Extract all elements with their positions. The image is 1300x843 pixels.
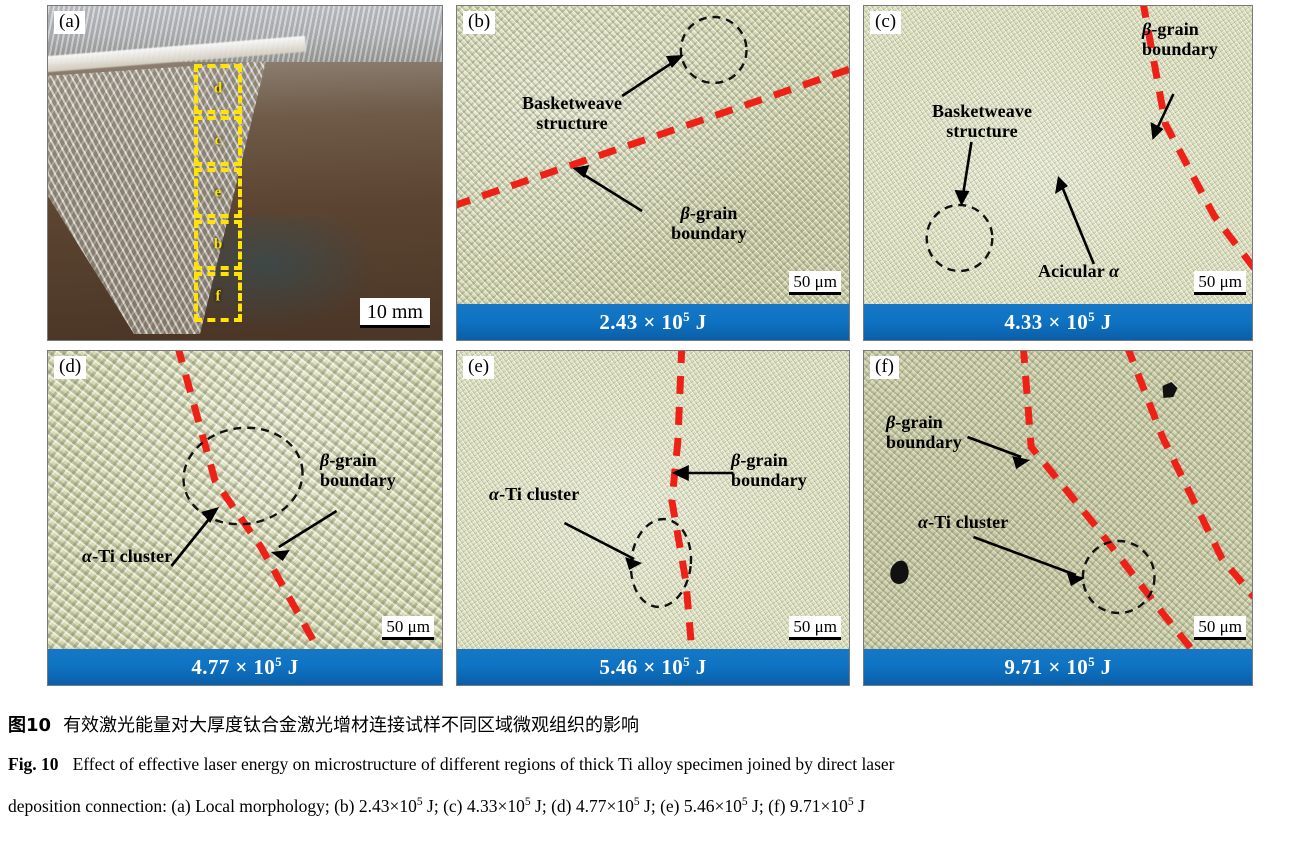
roi-label-b: b [198,237,238,254]
acicular-text: Acicular [1038,261,1109,281]
beta-symbol: β [681,203,690,223]
energy-mult-d: × 10 [230,655,275,679]
panel-b-image: Basketweave structure β-grain boundary 5… [457,6,849,305]
energy-mult-e: × 10 [638,655,683,679]
annotation-beta-line2: boundary [1142,40,1252,60]
caption-cn-text: 有效激光能量对大厚度钛合金激光增材连接试样不同区域微观组织的影响 [51,715,639,736]
energy-value-d: 4.77 [191,655,229,679]
energy-label-f: 9.71 × 105 J [1004,654,1111,680]
energy-value-e: 5.46 [599,655,637,679]
basketweave-arrow-line [622,59,678,96]
caption-en-end: J [854,796,865,816]
energy-mult-b: × 10 [638,310,683,334]
acicular-alpha-arrow-head [1055,176,1068,194]
annotation-beta-line2: boundary [731,471,849,491]
caption-en-mid3: J; (e) 5.46×10 [640,796,742,816]
alpha-cluster-arrow-line [973,537,1075,575]
annotation-basketweave-line2: structure [892,122,1072,142]
roi-label-e: e [198,185,238,202]
energy-unit-d: J [282,655,299,679]
energy-value-c: 4.33 [1004,310,1042,334]
acicular-alpha-arrow-line [1061,184,1094,264]
annotation-basketweave-line2: structure [477,114,667,134]
annotation-beta-line2: boundary [320,471,442,491]
beta-line1-rest: -grain [1151,19,1199,39]
caption-en-label: Fig. 10 [8,754,59,774]
energy-value-f: 9.71 [1004,655,1042,679]
alpha-symbol: α [1109,261,1119,281]
alpha-symbol: α [918,512,928,532]
beta-line1-rest: -grain [740,450,788,470]
annotation-beta-line1: β-grain [1142,20,1252,40]
roi-box-c[interactable]: c [194,116,242,166]
roi-label-f: f [198,289,238,306]
caption-en-mid2: J; (d) 4.77×10 [531,796,634,816]
panel-a-image: d c e b f 10 mm [48,6,442,341]
alpha-ti-cluster-circle [1083,541,1155,613]
scale-bar-50um-c: 50 μm [1194,271,1246,295]
beta-line1-rest: -grain [690,203,738,223]
beta-line1-rest: -grain [329,450,377,470]
panel-e-micrograph[interactable]: β-grain boundary α-Ti cluster 50 μm (e) … [456,350,850,686]
roi-label-d: d [198,81,238,98]
beta-symbol: β [1142,19,1151,39]
beta-boundary-arrow-line [279,511,337,547]
energy-label-d: 4.77 × 105 J [191,654,298,680]
beta-symbol: β [320,450,329,470]
annotation-alpha-ti-cluster-f: α-Ti cluster [918,513,1088,533]
roi-box-d[interactable]: d [194,64,242,114]
annotation-beta-line2: boundary [886,433,1036,453]
panel-label-b: (b) [463,11,495,34]
panel-grid: d c e b f 10 mm (a) [47,5,1253,686]
panel-d-micrograph[interactable]: β-grain boundary α-Ti cluster 50 μm (d) … [47,350,443,686]
scale-bar-50um-f: 50 μm [1194,616,1246,640]
scale-bar-50um-b: 50 μm [789,271,841,295]
energy-label-c: 4.33 × 105 J [1004,309,1111,335]
basketweave-region-circle [681,17,747,83]
energy-bar-e: 5.46 × 105 J [457,649,849,685]
caption-en-line1-text: Effect of effective laser energy on micr… [59,754,895,774]
beta-boundary-arrow-head [1151,122,1164,140]
caption-cn-label: 图10 [8,715,51,736]
panel-d-overlay [48,351,442,650]
panel-label-e: (e) [463,356,494,379]
energy-label-e: 5.46 × 105 J [599,654,706,680]
alpha-cluster-text: -Ti cluster [928,512,1008,532]
scale-bar-10mm: 10 mm [360,298,430,328]
energy-unit-c: J [1095,310,1112,334]
scale-bar-50um-e: 50 μm [789,616,841,640]
panel-b-overlay [457,6,849,305]
annotation-alpha-ti-cluster-d: α-Ti cluster [82,547,242,567]
alpha-symbol: α [489,484,499,504]
alpha-cluster-arrow-line [564,523,634,559]
annotation-beta-grain-boundary-f: β-grain boundary [886,413,1036,453]
beta-boundary-arrow-head [271,550,290,561]
annotation-beta-line1: β-grain [731,451,849,471]
panel-c-image: β-grain boundary Basketweave structure A… [864,6,1252,305]
annotation-beta-line1: β-grain [629,204,789,224]
caption-english-line1: Fig. 10Effect of effective laser energy … [8,745,1292,783]
annotation-basketweave-c: Basketweave structure [892,102,1072,142]
beta-symbol: β [731,450,740,470]
panel-label-f: (f) [870,356,899,379]
caption-en-mid1: J; (c) 4.33×10 [423,796,525,816]
caption-chinese: 图10有效激光能量对大厚度钛合金激光增材连接试样不同区域微观组织的影响 [8,706,1292,745]
energy-mult-c: × 10 [1043,310,1088,334]
annotation-basketweave-line1: Basketweave [477,94,667,114]
panel-b-micrograph[interactable]: Basketweave structure β-grain boundary 5… [456,5,850,341]
basketweave-arrow-head [955,190,970,206]
beta-grain-boundary-line [672,351,692,650]
beta-grain-boundary-line [457,68,849,206]
panel-f-overlay [864,351,1252,650]
panel-label-d: (d) [54,356,86,379]
basketweave-arrow-line [962,142,971,198]
annotation-basketweave-b: Basketweave structure [477,94,667,134]
basketweave-region-circle [927,205,993,271]
inclusion-spot-left [890,561,908,584]
alpha-cluster-text: -Ti cluster [499,484,579,504]
alpha-ti-cluster-circle [177,420,309,532]
annotation-acicular-alpha-c: Acicular α [1038,262,1178,282]
roi-box-e[interactable]: e [194,168,242,218]
annotation-alpha-ti-cluster-e: α-Ti cluster [489,485,659,505]
panel-f-image: β-grain boundary α-Ti cluster 50 μm [864,351,1252,650]
annotation-beta-line1: β-grain [886,413,1036,433]
energy-bar-d: 4.77 × 105 J [48,649,442,685]
energy-unit-f: J [1095,655,1112,679]
beta-boundary-arrow-head [1012,456,1030,469]
panel-e-image: β-grain boundary α-Ti cluster 50 μm [457,351,849,650]
caption-english-line2: deposition connection: (a) Local morphol… [8,783,1292,825]
annotation-beta-grain-boundary-e: β-grain boundary [731,451,849,491]
figure-container: d c e b f 10 mm (a) [0,0,1300,843]
annotation-basketweave-line1: Basketweave [892,102,1072,122]
panel-c-micrograph[interactable]: β-grain boundary Basketweave structure A… [863,5,1253,341]
figure-caption: 图10有效激光能量对大厚度钛合金激光增材连接试样不同区域微观组织的影响 Fig.… [8,706,1292,825]
energy-unit-e: J [690,655,707,679]
panel-d-image: β-grain boundary α-Ti cluster 50 μm [48,351,442,650]
energy-bar-c: 4.33 × 105 J [864,304,1252,340]
roi-label-c: c [198,133,238,150]
alpha-cluster-text: -Ti cluster [92,546,172,566]
caption-en-line2-pre: deposition connection: (a) Local morphol… [8,796,417,816]
energy-label-b: 2.43 × 105 J [599,309,706,335]
annotation-beta-grain-boundary-c: β-grain boundary [1142,20,1252,60]
energy-mult-f: × 10 [1043,655,1088,679]
panel-label-a: (a) [54,11,85,34]
annotation-beta-line2: boundary [629,224,789,244]
roi-box-b[interactable]: b [194,220,242,270]
alpha-symbol: α [82,546,92,566]
inclusion-spot-top [1162,382,1177,398]
annotation-beta-grain-boundary-b: β-grain boundary [629,204,789,244]
energy-value-b: 2.43 [599,310,637,334]
annotation-beta-grain-boundary-d: β-grain boundary [320,451,442,491]
panel-label-c: (c) [870,11,901,34]
caption-en-mid4: J; (f) 9.71×10 [748,796,848,816]
energy-unit-b: J [690,310,707,334]
beta-grain-boundary-line-2 [1127,351,1252,597]
scale-bar-50um-d: 50 μm [382,616,434,640]
beta-grain-boundary-line [177,351,318,650]
annotation-beta-line1: β-grain [320,451,442,471]
beta-symbol: β [886,412,895,432]
energy-bar-b: 2.43 × 105 J [457,304,849,340]
panel-a-specimen[interactable]: d c e b f 10 mm (a) [47,5,443,341]
energy-bar-f: 9.71 × 105 J [864,649,1252,685]
roi-box-f[interactable]: f [194,272,242,322]
beta-line1-rest: -grain [895,412,943,432]
panel-f-micrograph[interactable]: β-grain boundary α-Ti cluster 50 μm (f) … [863,350,1253,686]
